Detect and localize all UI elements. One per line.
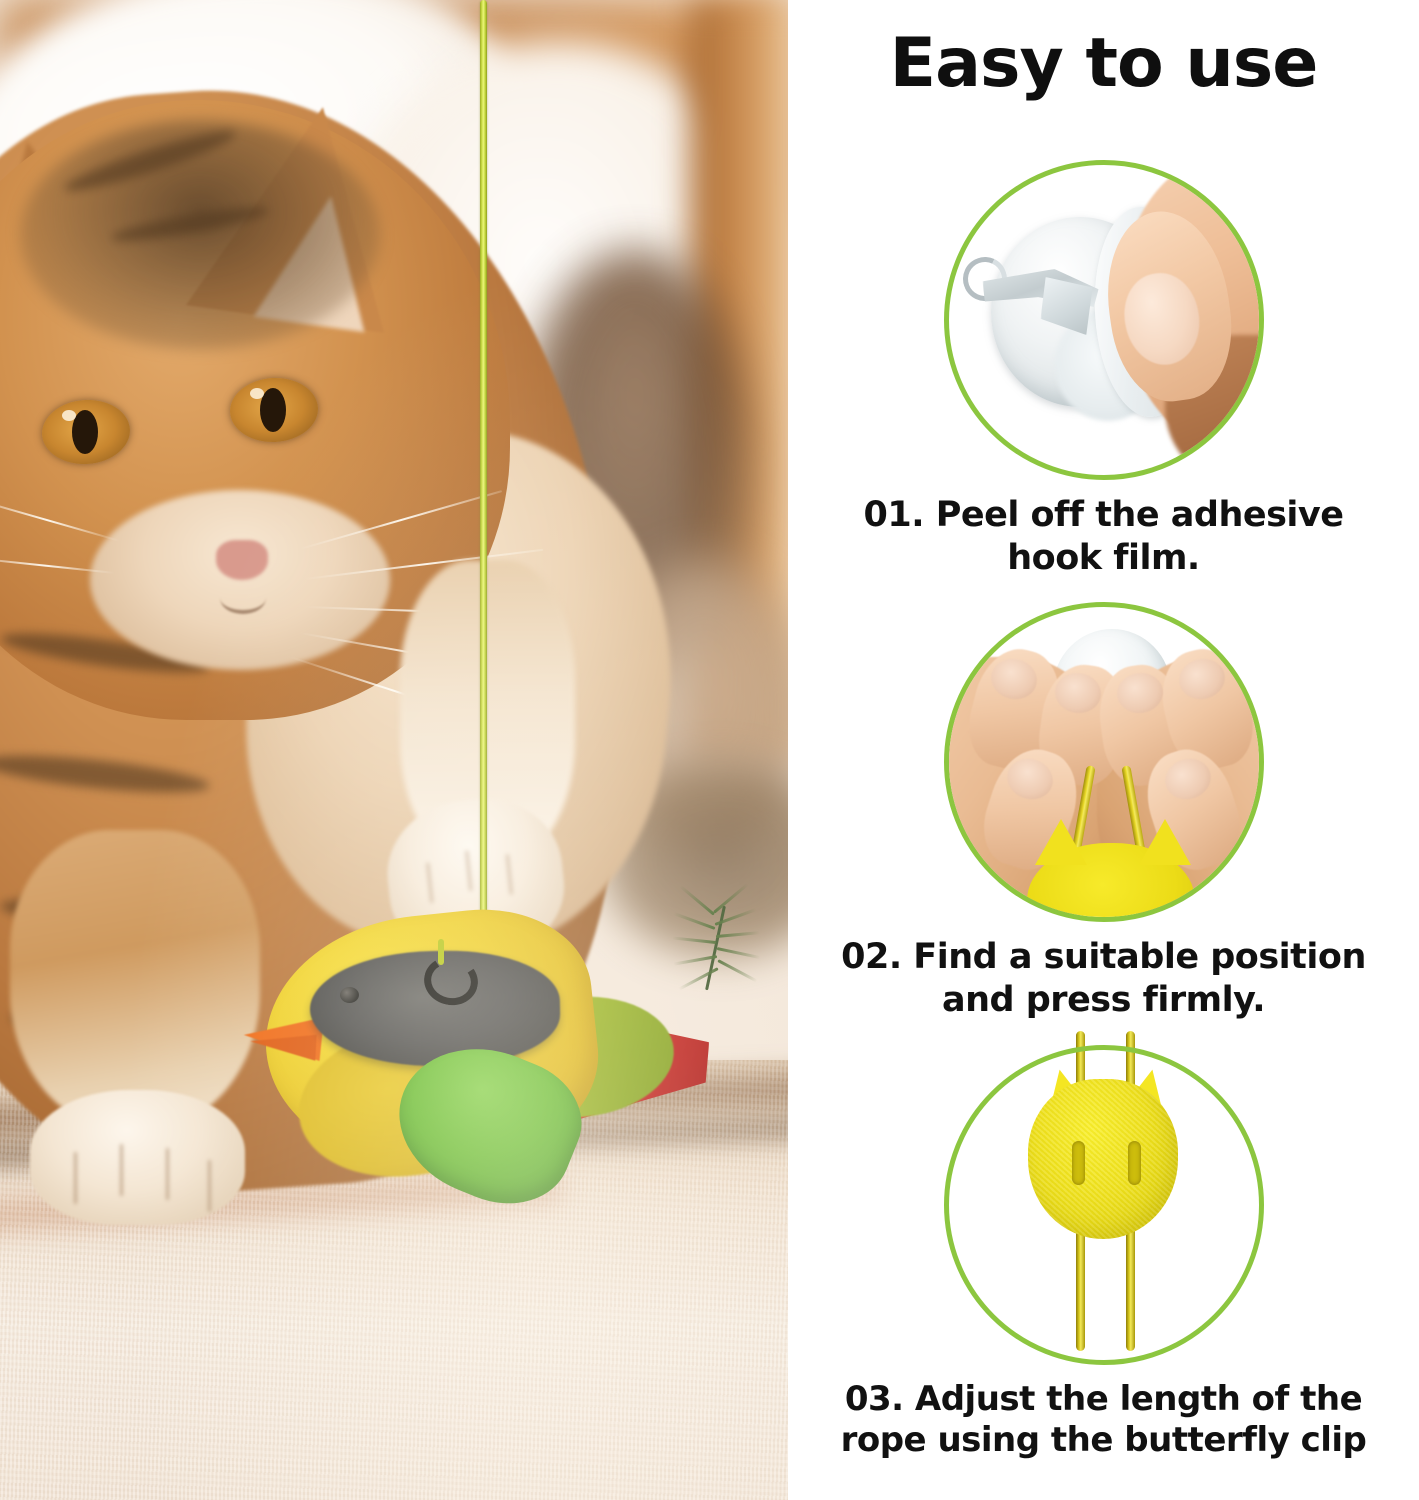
lifestyle-photo <box>0 0 788 1500</box>
felt-cat-head-clip <box>1028 1079 1178 1239</box>
cat-nose <box>216 540 268 580</box>
step-3-caption: 03. Adjust the length of the rope using … <box>788 1379 1419 1462</box>
step-1-illustration <box>944 160 1264 480</box>
step-2-line-1: 02. Find a suitable position <box>800 936 1407 979</box>
felt-slot-right <box>1128 1141 1141 1185</box>
bird-feather-plume <box>666 893 776 1013</box>
instructions-panel: Easy to use <box>788 0 1419 1500</box>
step-1-line-2: hook film. <box>800 537 1407 580</box>
step-1-caption: 01. Peel off the adhesive hook film. <box>788 494 1419 579</box>
felt-bird-toy <box>248 905 708 1205</box>
product-infographic: Easy to use <box>0 0 1419 1500</box>
cat-mouth <box>220 582 266 614</box>
step-3-line-1: 03. Adjust the length of the <box>792 1379 1415 1420</box>
page-title: Easy to use <box>788 30 1419 98</box>
circle-content <box>949 607 1259 917</box>
cat-muzzle <box>90 490 390 670</box>
bird-beak-lower <box>249 1031 316 1060</box>
cat-pupil-left <box>72 410 98 454</box>
cat-paw-front <box>30 1090 245 1225</box>
step-3-line-2: rope using the butterfly clip <box>792 1420 1415 1461</box>
elastic-cord <box>480 0 487 970</box>
bird-eye <box>340 987 359 1003</box>
felt-ear-left <box>1035 819 1087 865</box>
felt-slot-left <box>1072 1141 1085 1185</box>
cat-front-leg <box>10 830 260 1130</box>
step-2-illustration <box>944 602 1264 922</box>
cat-eye-highlight <box>250 388 264 399</box>
step-2-line-2: and press firmly. <box>800 979 1407 1022</box>
circle-content <box>949 165 1259 475</box>
step-2: 02. Find a suitable position and press f… <box>788 602 1419 1021</box>
step-1: 01. Peel off the adhesive hook film. <box>788 160 1419 579</box>
step-1-line-1: 01. Peel off the adhesive <box>800 494 1407 537</box>
felt-ear-right <box>1139 819 1191 865</box>
cat-forehead-marking <box>20 120 380 350</box>
cat-eye-highlight <box>62 410 76 421</box>
cat-pupil-right <box>260 388 286 432</box>
felt-texture <box>1028 1079 1178 1239</box>
step-3-illustration <box>944 1045 1264 1365</box>
step-2-caption: 02. Find a suitable position and press f… <box>788 936 1419 1021</box>
step-3: 03. Adjust the length of the rope using … <box>788 1045 1419 1462</box>
